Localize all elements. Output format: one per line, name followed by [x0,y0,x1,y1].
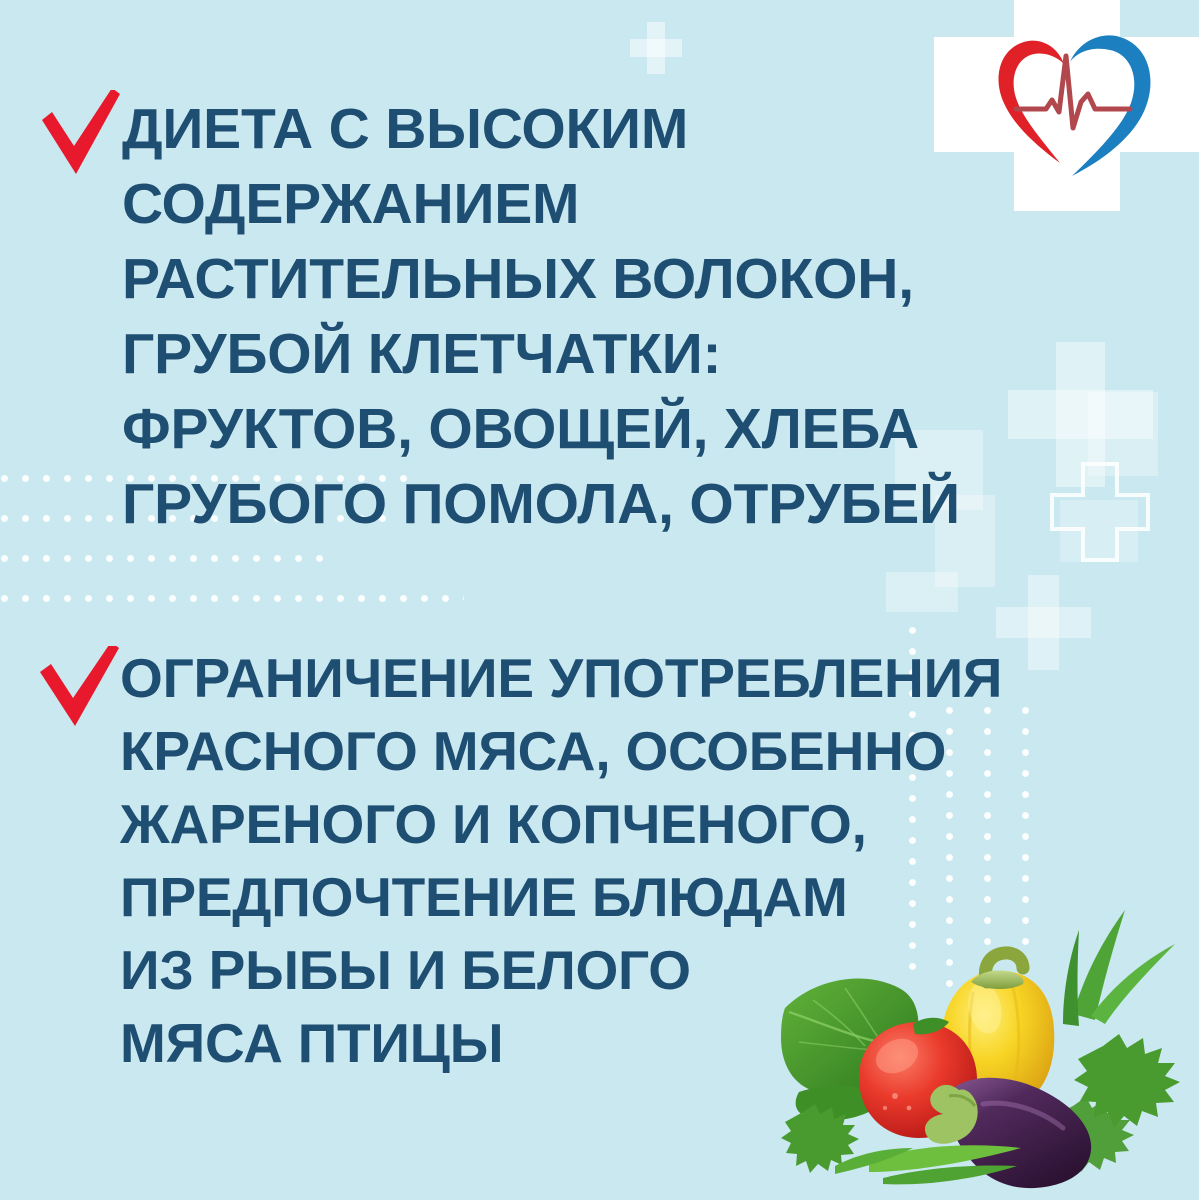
vegetables-illustration [773,896,1193,1196]
bullet-line: ЖАРЕНОГО И КОПЧЕНОГО, [120,788,1002,861]
bullet-line: СОДЕРЖАНИЕМ [122,167,960,242]
bullet-line: ГРУБОГО ПОМОЛА, ОТРУБЕЙ [122,467,960,542]
bullet-block-diet: ДИЕТА С ВЫСОКИМ СОДЕРЖАНИЕМ РАСТИТЕЛЬНЫХ… [28,92,960,542]
green-onion [1063,910,1175,1026]
health-infographic-poster: ДИЕТА С ВЫСОКИМ СОДЕРЖАНИЕМ РАСТИТЕЛЬНЫХ… [0,0,1199,1200]
bullet-line: РАСТИТЕЛЬНЫХ ВОЛОКОН, [122,242,960,317]
bullet-text-lines: ДИЕТА С ВЫСОКИМ СОДЕРЖАНИЕМ РАСТИТЕЛЬНЫХ… [122,92,960,542]
red-check-icon [36,90,122,182]
bullet-line: ФРУКТОВ, ОВОЩЕЙ, ХЛЕБА [122,392,960,467]
bullet-line: ОГРАНИЧЕНИЕ УПОТРЕБЛЕНИЯ [120,642,1002,715]
bullet-line: ДИЕТА С ВЫСОКИМ [122,92,960,167]
bullet-line: КРАСНОГО МЯСА, ОСОБЕННО [120,715,1002,788]
bullet-line: ГРУБОЙ КЛЕТЧАТКИ: [122,317,960,392]
red-check-icon [36,646,120,738]
